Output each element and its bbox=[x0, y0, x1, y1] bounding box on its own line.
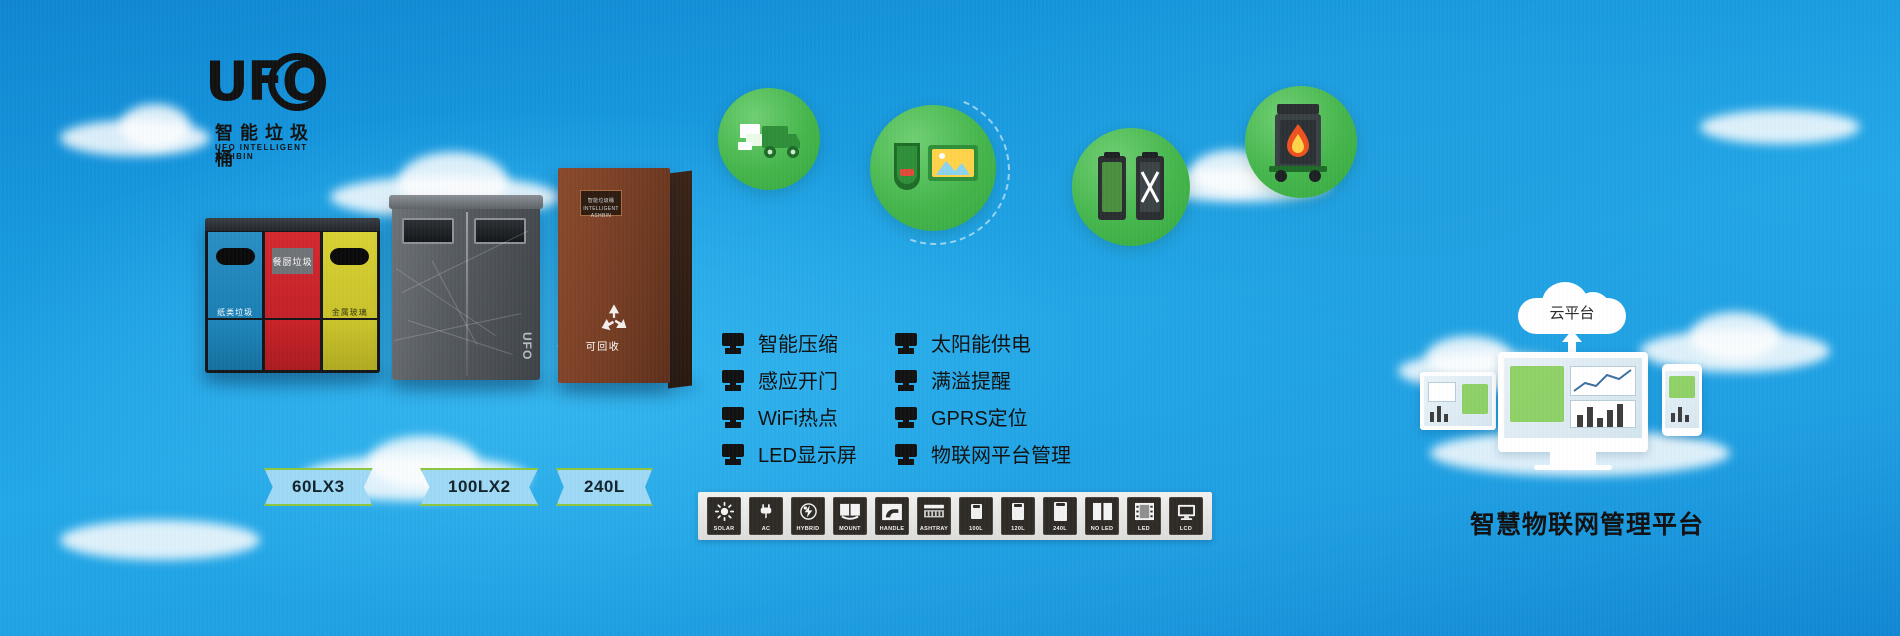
ribbon-label: 60LX3 bbox=[292, 477, 345, 497]
capacity-ribbon-100lx2: 100LX2 bbox=[420, 468, 539, 506]
monitor-icon bbox=[895, 444, 917, 464]
spec-icon-handle: HANDLE bbox=[875, 497, 909, 535]
no-led-icon bbox=[1086, 498, 1118, 525]
tablet-bar bbox=[1430, 412, 1434, 422]
dashboard-bar bbox=[1587, 407, 1593, 427]
spec-caption: NO LED bbox=[1086, 525, 1118, 534]
monitor-icon bbox=[895, 407, 917, 427]
cloud-decoration bbox=[60, 520, 260, 560]
dashboard-chart-panel bbox=[1570, 366, 1636, 396]
phone-bar bbox=[1671, 413, 1675, 422]
bin-pair-icon bbox=[1096, 150, 1168, 231]
dashboard-map bbox=[1510, 366, 1564, 422]
spec-icon-mount: MOUNT bbox=[833, 497, 867, 535]
logo-ring-icon bbox=[268, 53, 326, 111]
bin-texture bbox=[392, 200, 540, 380]
monitor-icon bbox=[722, 444, 744, 464]
ufo-logo: UFO 智能垃圾桶 UFO INTELLIGENT ASHBIN bbox=[205, 55, 335, 160]
bin-lid bbox=[205, 218, 380, 231]
phone-bar bbox=[1678, 407, 1682, 422]
cloud-decoration bbox=[1700, 110, 1860, 144]
cloud-platform-label: 云平台 bbox=[1518, 302, 1626, 323]
spec-caption: 100L bbox=[960, 525, 992, 534]
spec-caption: ASHTRAY bbox=[918, 525, 950, 534]
feature-label: LED显示屏 bbox=[758, 439, 857, 468]
dashboard-bar bbox=[1607, 410, 1613, 427]
spec-icon-ac: AC bbox=[749, 497, 783, 535]
tablet-map-blob bbox=[1462, 384, 1488, 414]
feature-item: GPRS定位 bbox=[895, 402, 1028, 431]
dashboard-bar bbox=[1577, 415, 1583, 427]
spec-icon-120l: 120L bbox=[1001, 497, 1035, 535]
monitor-icon bbox=[722, 370, 744, 390]
phone-bar bbox=[1685, 415, 1689, 422]
truck-icon bbox=[736, 120, 802, 167]
product-bin-60lx3: 纸类垃圾 餐厨垃圾 金属玻璃 bbox=[205, 218, 380, 373]
spec-icon-strip: SOLAR AC HYBRI bbox=[698, 492, 1212, 540]
banner-stage: UFO 智能垃圾桶 UFO INTELLIGENT ASHBIN 纸类垃圾 餐厨… bbox=[0, 0, 1900, 636]
bin-panel: 餐厨垃圾 bbox=[265, 232, 319, 370]
tablet-bar bbox=[1437, 406, 1441, 422]
spec-caption: MOUNT bbox=[834, 525, 866, 534]
spec-icon-hybrid: HYBRID bbox=[791, 497, 825, 535]
line-chart-icon bbox=[1571, 367, 1635, 395]
panel-lower bbox=[265, 320, 319, 370]
feature-item: 智能压缩 bbox=[722, 328, 838, 357]
dashboard-bar-panel bbox=[1570, 400, 1636, 428]
fire-alarm-circle bbox=[1245, 86, 1357, 198]
cloud-platform-tag: 云平台 bbox=[1518, 282, 1626, 336]
feature-label: 物联网平台管理 bbox=[931, 439, 1071, 468]
bin-display-screen: 智能垃圾桶 INTELLIGENT ASHBIN bbox=[580, 190, 622, 216]
monitor-icon bbox=[722, 407, 744, 427]
spec-icon-no-led: NO LED bbox=[1085, 497, 1119, 535]
spec-icon-lcd: LCD bbox=[1169, 497, 1203, 535]
feature-item: 感应开门 bbox=[722, 365, 838, 394]
panel-lower bbox=[323, 320, 377, 370]
tablet-device bbox=[1420, 372, 1496, 430]
panel-label: 纸类垃圾 bbox=[208, 307, 262, 318]
ribbon-label: 100LX2 bbox=[448, 477, 511, 497]
cloud-decoration bbox=[120, 104, 190, 148]
ashtray-icon bbox=[918, 498, 950, 525]
panel-upper bbox=[323, 232, 377, 318]
lcd-icon bbox=[1170, 498, 1202, 525]
feature-item: 满溢提醒 bbox=[895, 365, 1011, 394]
fill-level-circle bbox=[1072, 128, 1190, 246]
feature-label: 太阳能供电 bbox=[931, 328, 1031, 357]
product-bin-240l: 智能垃圾桶 INTELLIGENT ASHBIN 可回收 bbox=[558, 168, 670, 383]
logo-english-name: UFO INTELLIGENT ASHBIN bbox=[215, 143, 335, 161]
bin-side bbox=[668, 171, 692, 389]
spec-caption: HANDLE bbox=[876, 525, 908, 534]
spec-icon-100l: 100L bbox=[959, 497, 993, 535]
waste-slot bbox=[330, 248, 369, 265]
panel-upper bbox=[208, 232, 262, 318]
dashboard-bar bbox=[1597, 418, 1603, 427]
panel-label: 餐厨垃圾 bbox=[272, 248, 313, 274]
feature-label: 智能压缩 bbox=[758, 328, 838, 357]
phone-map-blob bbox=[1669, 376, 1695, 398]
panel-upper bbox=[265, 232, 319, 318]
tablet-bar bbox=[1444, 414, 1448, 422]
spec-caption: LCD bbox=[1170, 525, 1202, 534]
cloud-platform-illustration: 云平台 bbox=[1412, 290, 1742, 470]
monitor-icon bbox=[895, 370, 917, 390]
spec-icon-ashtray: ASHTRAY bbox=[917, 497, 951, 535]
spec-caption: AC bbox=[750, 525, 782, 534]
feature-label: WiFi热点 bbox=[758, 402, 838, 431]
recycle-label: 可回收 bbox=[558, 338, 648, 353]
signal-dash-arc bbox=[836, 71, 1034, 269]
plug-icon bbox=[750, 498, 782, 525]
bin-240l-icon bbox=[1044, 498, 1076, 525]
panel-label: 金属玻璃 bbox=[323, 307, 377, 318]
bin-panel: 金属玻璃 bbox=[323, 232, 377, 370]
feature-item: 太阳能供电 bbox=[895, 328, 1031, 357]
spec-icon-solar: SOLAR bbox=[707, 497, 741, 535]
sun-icon bbox=[708, 498, 740, 525]
ribbon-label: 240L bbox=[584, 477, 625, 497]
phone-device bbox=[1662, 364, 1702, 436]
bin-panel: 纸类垃圾 bbox=[208, 232, 262, 370]
waste-slot bbox=[216, 248, 255, 265]
fire-bin-icon bbox=[1265, 102, 1337, 189]
feature-item: 物联网平台管理 bbox=[895, 439, 1071, 468]
capacity-ribbon-240l: 240L bbox=[556, 468, 653, 506]
spec-icon-240l: 240L bbox=[1043, 497, 1077, 535]
tablet-chart bbox=[1428, 382, 1456, 402]
dashboard-bar bbox=[1617, 404, 1623, 427]
feature-label: 感应开门 bbox=[758, 365, 838, 394]
bin-120l-icon bbox=[1002, 498, 1034, 525]
panel-lower bbox=[208, 320, 262, 370]
monitor-base bbox=[1534, 465, 1612, 470]
monitor-icon bbox=[895, 333, 917, 353]
feature-label: GPRS定位 bbox=[931, 402, 1028, 431]
spec-caption: SOLAR bbox=[708, 525, 740, 534]
recycle-icon bbox=[596, 301, 632, 337]
spec-caption: 120L bbox=[1002, 525, 1034, 534]
monitor-icon bbox=[722, 333, 744, 353]
compaction-truck-circle bbox=[718, 88, 820, 190]
capacity-ribbon-60lx3: 60LX3 bbox=[264, 468, 373, 506]
platform-caption: 智慧物联网管理平台 bbox=[1470, 505, 1704, 541]
hybrid-icon bbox=[792, 498, 824, 525]
led-icon bbox=[1128, 498, 1160, 525]
feature-item: WiFi热点 bbox=[722, 402, 838, 431]
bin-display-text: 智能垃圾桶 INTELLIGENT ASHBIN bbox=[581, 198, 621, 221]
bin-side-mark: UFO bbox=[520, 332, 534, 360]
spec-caption: HYBRID bbox=[792, 525, 824, 534]
monitor-screen bbox=[1504, 358, 1642, 438]
mount-icon bbox=[834, 498, 866, 525]
desktop-monitor bbox=[1498, 352, 1648, 452]
spec-icon-led: LED bbox=[1127, 497, 1161, 535]
feature-item: LED显示屏 bbox=[722, 439, 857, 468]
handle-icon bbox=[876, 498, 908, 525]
bin-100l-icon bbox=[960, 498, 992, 525]
spec-caption: 240L bbox=[1044, 525, 1076, 534]
monitor-stand bbox=[1550, 452, 1596, 466]
spec-caption: LED bbox=[1128, 525, 1160, 534]
product-bin-100lx2: 智慧垃圾桶 UFO bbox=[392, 200, 540, 380]
feature-label: 满溢提醒 bbox=[931, 365, 1011, 394]
